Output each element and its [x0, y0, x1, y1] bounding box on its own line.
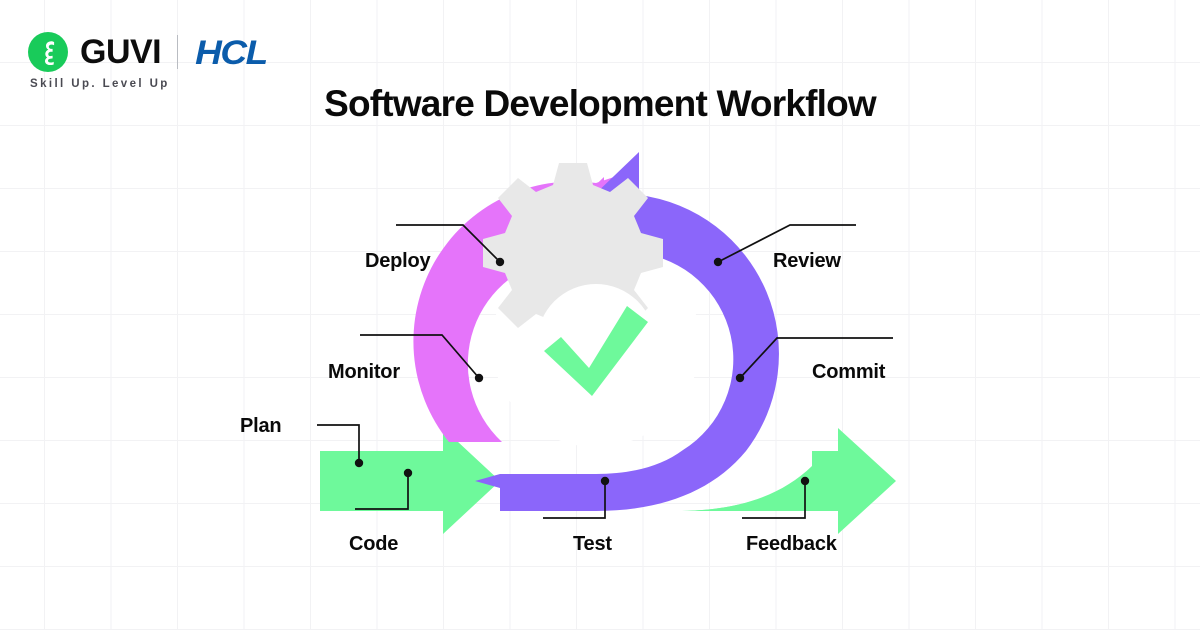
stage-label-review: Review — [773, 250, 841, 273]
leader-dot-code — [404, 469, 412, 477]
leader-dot-monitor — [475, 374, 483, 382]
stage-label-plan: Plan — [240, 415, 281, 438]
green-arrow-left-icon — [320, 428, 500, 534]
leader-dot-review — [714, 258, 722, 266]
stage-label-commit: Commit — [812, 361, 885, 384]
leader-dot-feedback — [801, 477, 809, 485]
stage-label-test: Test — [573, 533, 612, 556]
stage-label-feedback: Feedback — [746, 533, 837, 556]
stage-label-deploy: Deploy — [365, 250, 430, 273]
workflow-infographic: GUVI HCL Skill Up. Level Up Software Dev… — [0, 0, 1200, 630]
leader-dot-plan — [355, 459, 363, 467]
leader-dot-commit — [736, 374, 744, 382]
stage-label-monitor: Monitor — [328, 361, 400, 384]
leader-dot-test — [601, 477, 609, 485]
stage-label-code: Code — [349, 533, 398, 556]
leader-dot-deploy — [496, 258, 504, 266]
